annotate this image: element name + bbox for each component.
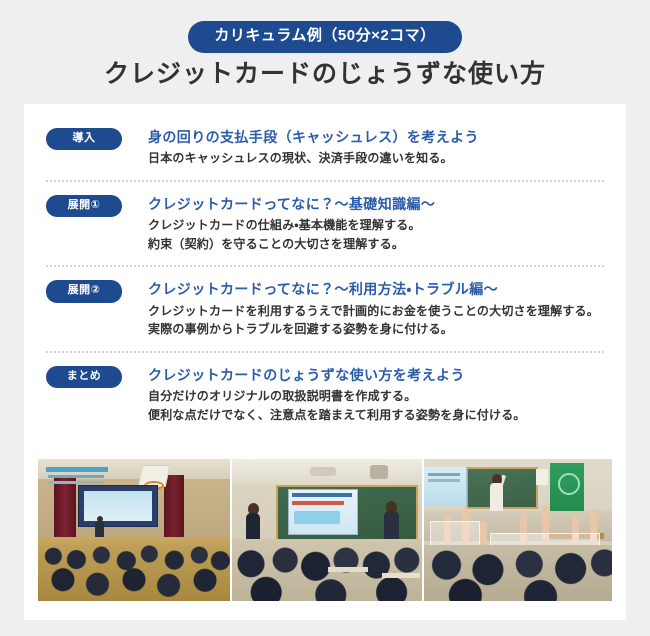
section-divider [46,180,604,182]
section-heading: クレジットカードってなに？〜利用方法・トラブル編〜 [148,279,604,299]
section-pill-summary: まとめ [46,366,122,388]
photo-strip [38,459,612,601]
curriculum-section: 展開② クレジットカードってなに？〜利用方法・トラブル編〜 クレジットカードを利… [46,270,604,347]
section-heading: 身の回りの支払手段（キャッシュレス）を考えよう [148,127,604,147]
top-badge-container: カリキュラム例（50分×2コマ） [0,21,650,53]
section-heading: クレジットカードってなに？〜基礎知識編〜 [148,194,604,214]
section-heading: クレジットカードのじょうずな使い方を考えよう [148,365,604,385]
curriculum-section: 展開① クレジットカードってなに？〜基礎知識編〜 クレジットカードの仕組み・基本… [46,185,604,262]
gymnasium-assembly-photo [38,459,230,601]
students-raising-hands-photo [424,459,612,601]
section-detail-line: 約束（契約）を守ることの大切さを理解する。 [148,235,604,254]
section-detail-line: 自分だけのオリジナルの取扱説明書を作成する。 [148,387,604,406]
section-content: クレジットカードのじょうずな使い方を考えよう 自分だけのオリジナルの取扱説明書を… [122,365,604,424]
page-title: クレジットカードのじょうずな使い方 [0,58,650,91]
curriculum-section: 導入 身の回りの支払手段（キャッシュレス）を考えよう 日本のキャッシュレスの現状… [46,118,604,177]
section-divider [46,351,604,353]
section-content: クレジットカードってなに？〜基礎知識編〜 クレジットカードの仕組み・基本機能を理… [122,194,604,253]
section-detail-line: 実際の事例からトラブルを回避する姿勢を身に付ける。 [148,320,604,339]
curriculum-section-list: 導入 身の回りの支払手段（キャッシュレス）を考えよう 日本のキャッシュレスの現状… [24,104,626,433]
section-pill-intro: 導入 [46,128,122,150]
classroom-lecture-photo [232,459,422,601]
section-detail-line: クレジットカードの仕組み・基本機能を理解する。 [148,216,604,235]
section-detail-line: 日本のキャッシュレスの現状、決済手段の違いを知る。 [148,149,604,168]
section-detail-line: 便利な点だけでなく、注意点を踏まえて利用する姿勢を身に付ける。 [148,406,604,425]
section-pill-development-2: 展開② [46,280,122,302]
section-divider [46,265,604,267]
curriculum-example-badge: カリキュラム例（50分×2コマ） [188,21,461,53]
section-detail-line: クレジットカードを利用するうえで計画的にお金を使うことの大切さを理解する。 [148,302,604,321]
curriculum-section: まとめ クレジットカードのじょうずな使い方を考えよう 自分だけのオリジナルの取扱… [46,356,604,433]
section-pill-development-1: 展開① [46,195,122,217]
curriculum-page: カリキュラム例（50分×2コマ） クレジットカードのじょうずな使い方 導入 身の… [0,0,650,636]
section-content: クレジットカードってなに？〜利用方法・トラブル編〜 クレジットカードを利用するう… [122,279,604,338]
curriculum-card: 導入 身の回りの支払手段（キャッシュレス）を考えよう 日本のキャッシュレスの現状… [24,104,626,620]
section-content: 身の回りの支払手段（キャッシュレス）を考えよう 日本のキャッシュレスの現状、決済… [122,127,604,168]
